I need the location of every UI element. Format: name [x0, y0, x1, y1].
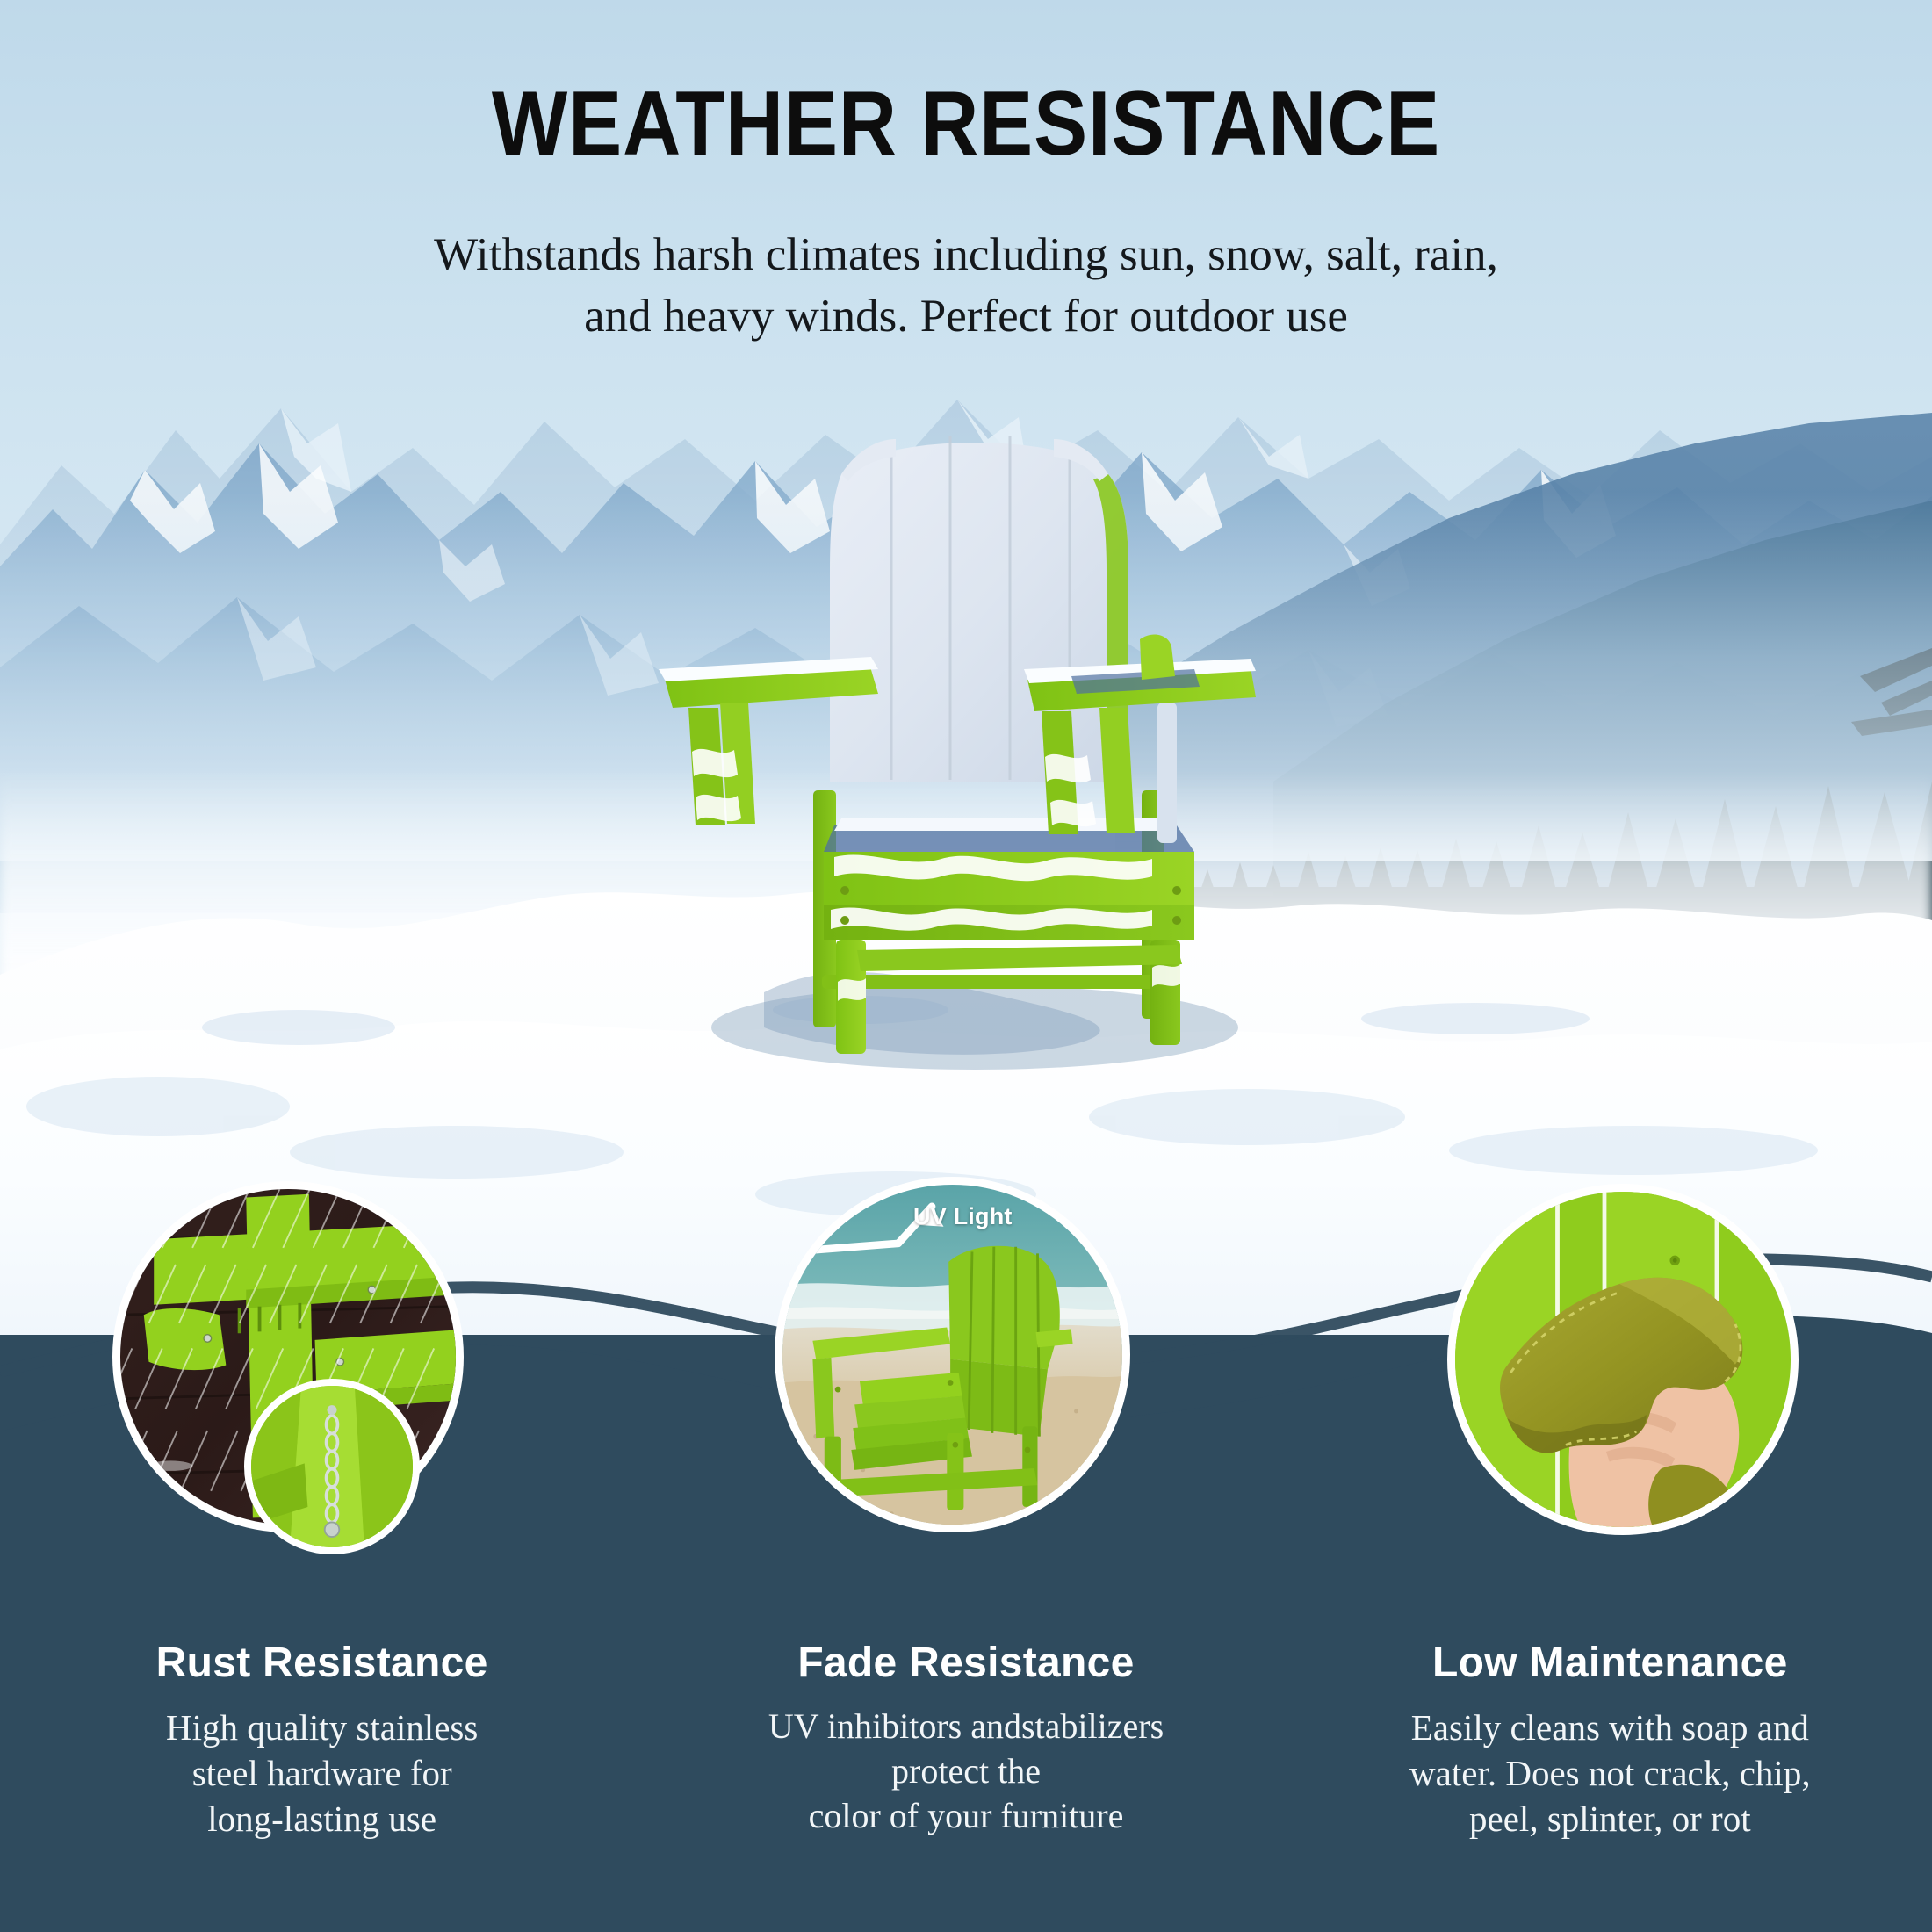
page-subtitle: Withstands harsh climates including sun,…: [0, 224, 1932, 348]
feature-heading-low-maintenance: Low Maintenance: [1309, 1639, 1911, 1687]
feature-body-line: Easily cleans with soap and: [1411, 1707, 1809, 1748]
feature-column-fade-resistance: Fade Resistance UV inhibitors andstabili…: [644, 1639, 1287, 1902]
feature-body-line: color of your furniture: [809, 1796, 1124, 1835]
feature-inset-chain-detail: [244, 1379, 420, 1554]
feature-heading-rust-resistance: Rust Resistance: [21, 1639, 623, 1687]
feature-body-rust-resistance: High quality stainless steel hardware fo…: [21, 1705, 623, 1842]
feature-body-line: steel hardware for: [192, 1753, 452, 1793]
feature-body-line: water. Does not crack, chip,: [1409, 1753, 1811, 1793]
beach-chair-uv-image: [782, 1185, 1122, 1525]
feature-heading-fade-resistance: Fade Resistance: [665, 1639, 1266, 1687]
stainless-chain-image: [251, 1386, 413, 1547]
feature-body-line: High quality stainless: [166, 1707, 478, 1748]
product-feature-graphic: UV Light: [0, 0, 1932, 1932]
subtitle-line-1: Withstands harsh climates including sun,…: [0, 224, 1932, 285]
feature-column-low-maintenance: Low Maintenance Easily cleans with soap …: [1288, 1639, 1932, 1902]
subtitle-line-2: and heavy winds. Perfect for outdoor use: [0, 285, 1932, 347]
hero-scene: [0, 0, 1932, 1335]
feature-body-low-maintenance: Easily cleans with soap and water. Does …: [1309, 1705, 1911, 1842]
feature-body-line: UV inhibitors andstabilizers: [768, 1706, 1164, 1746]
adirondack-chair-snow-covered: [615, 413, 1335, 1080]
feature-columns: Rust Resistance High quality stainless s…: [0, 1639, 1932, 1902]
hand-wiping-cloth-image: [1455, 1192, 1791, 1527]
feature-body-line: long-lasting use: [207, 1799, 436, 1839]
feature-body-line: protect the: [891, 1751, 1041, 1791]
feature-image-low-maintenance: [1447, 1184, 1799, 1535]
feature-column-rust-resistance: Rust Resistance High quality stainless s…: [0, 1639, 644, 1902]
page-title: WEATHER RESISTANCE: [116, 77, 1816, 170]
feature-body-line: peel, splinter, or rot: [1469, 1799, 1751, 1839]
uv-light-label: UV Light: [913, 1203, 1013, 1230]
feature-body-fade-resistance: UV inhibitors andstabilizers protect the…: [665, 1705, 1266, 1838]
